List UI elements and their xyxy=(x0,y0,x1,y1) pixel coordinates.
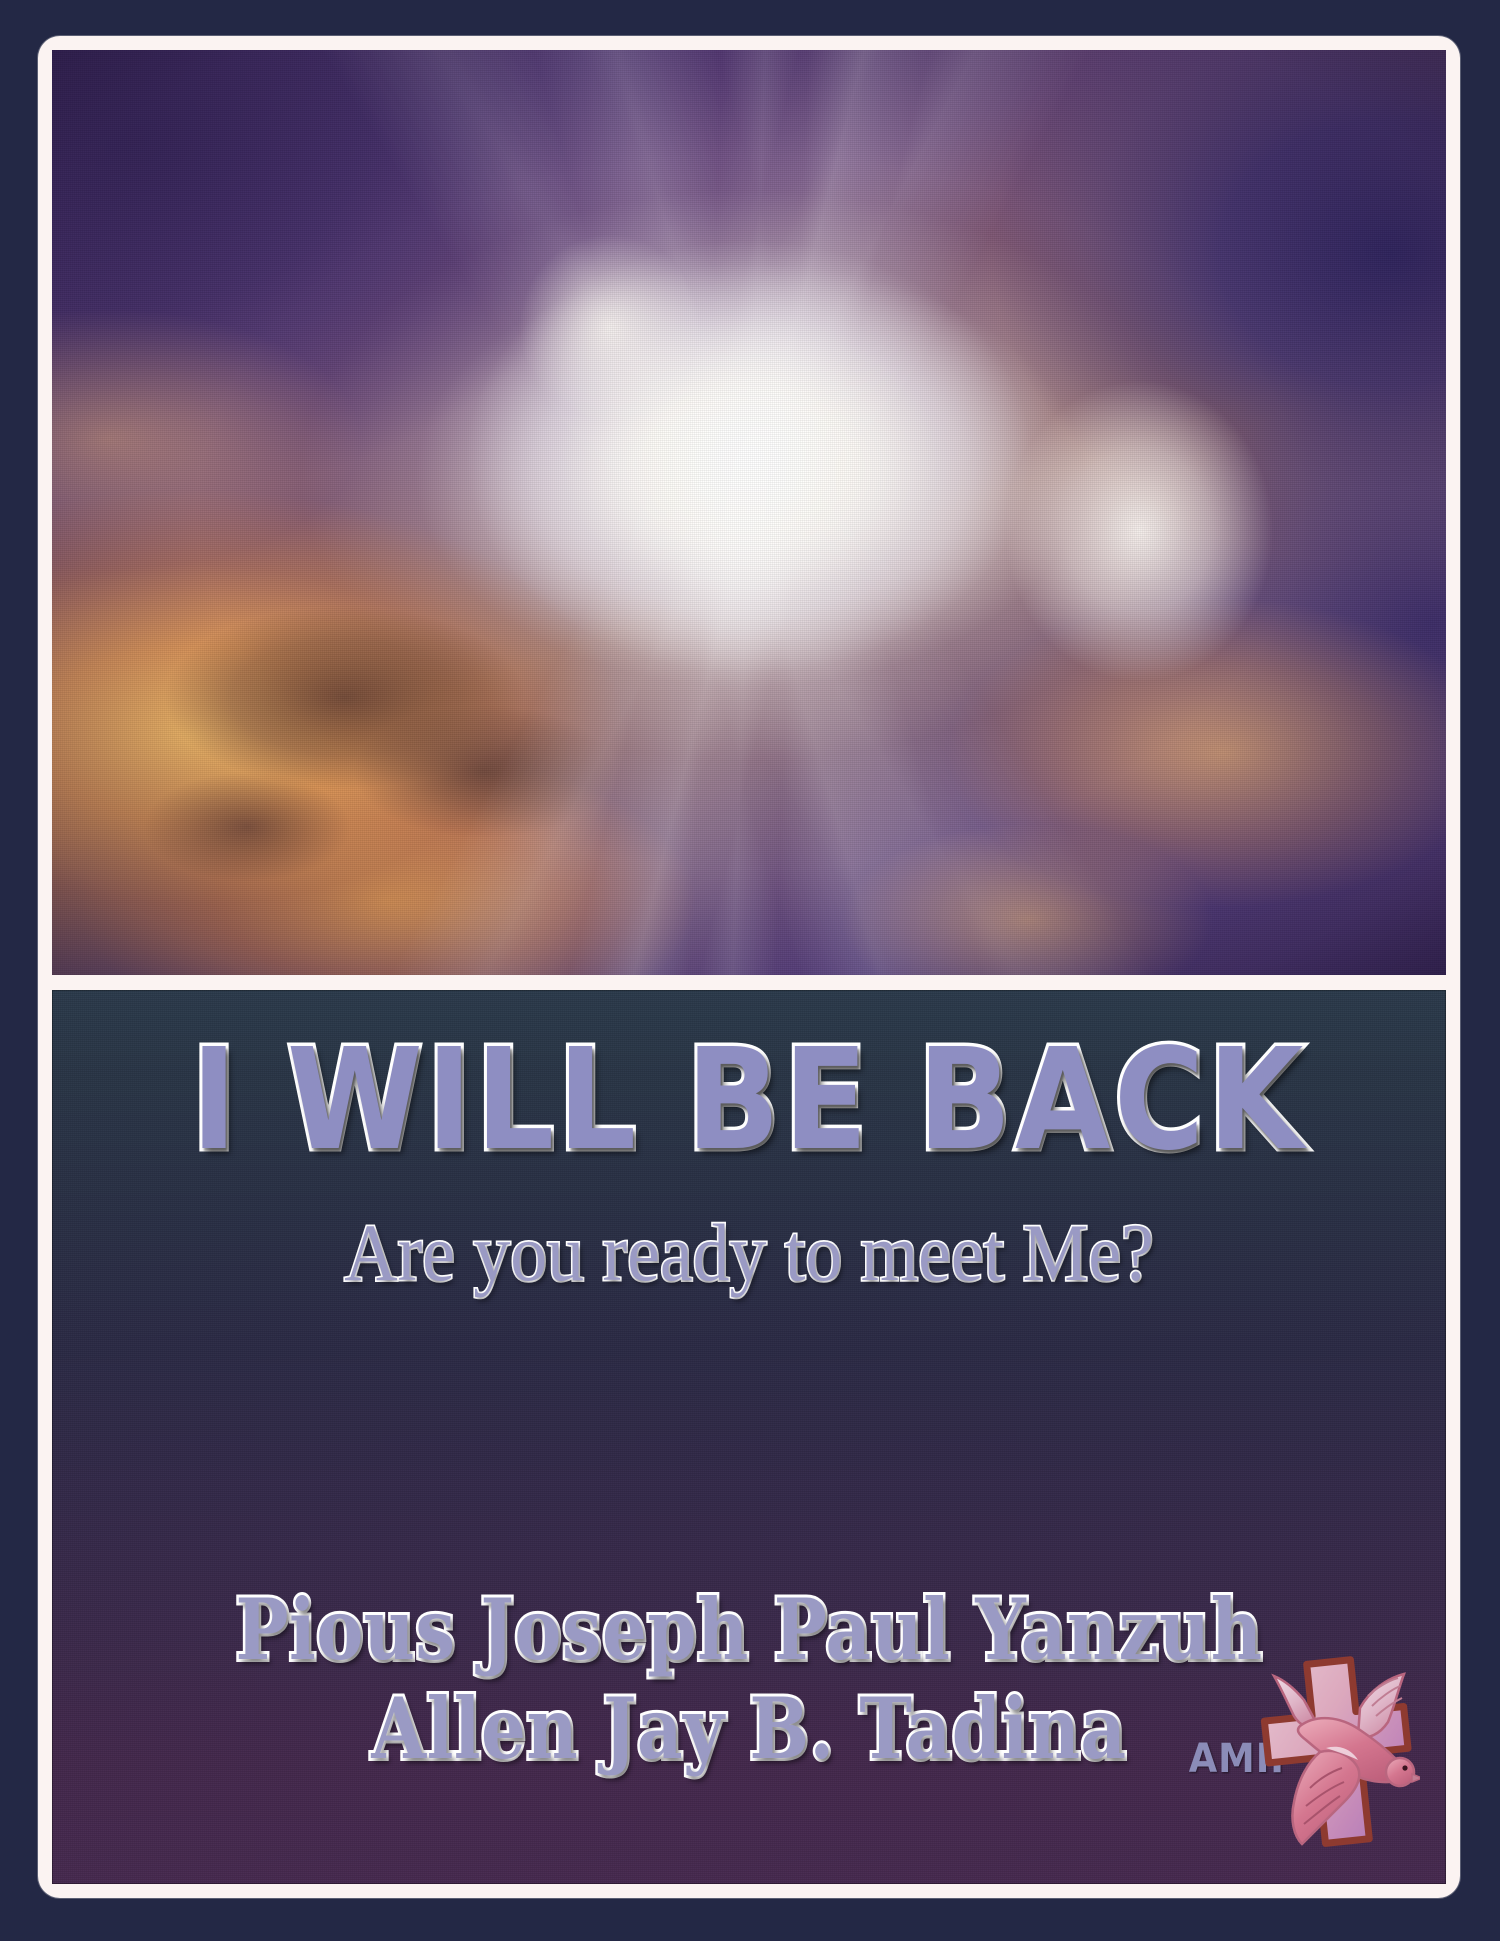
hero-sky-photo xyxy=(52,50,1446,975)
book-subtitle: Are you ready to meet Me? xyxy=(122,1212,1377,1294)
author-name-primary: Pious Joseph Paul Yanzuh xyxy=(164,1580,1335,1679)
book-title: I WILL BE BACK xyxy=(136,1030,1363,1173)
photo-vignette xyxy=(52,50,1446,975)
publisher-logo: AMIP xyxy=(1184,1648,1420,1848)
cover-card-frame: I WILL BE BACK Are you ready to meet Me?… xyxy=(38,36,1460,1898)
book-cover-page: I WILL BE BACK Are you ready to meet Me?… xyxy=(0,0,1500,1941)
cross-and-dove-icon xyxy=(1248,1652,1420,1848)
author-name-secondary: Allen Jay B. Tadina xyxy=(164,1679,1335,1778)
title-text-panel: I WILL BE BACK Are you ready to meet Me?… xyxy=(52,990,1446,1884)
panel-divider xyxy=(52,975,1446,990)
